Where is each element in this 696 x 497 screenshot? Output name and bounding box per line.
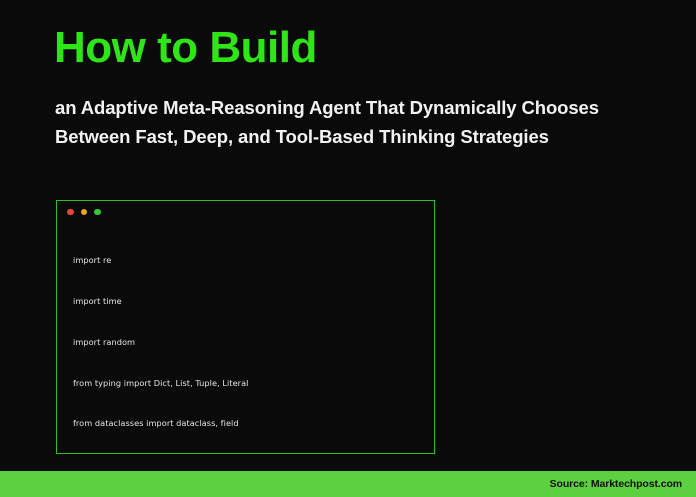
maximize-dot-icon[interactable] — [94, 209, 101, 216]
code-line: import random — [73, 336, 434, 350]
code-line: import time — [73, 295, 434, 309]
source-footer-bar: Source: Marktechpost.com — [0, 471, 696, 497]
code-window-titlebar — [57, 201, 434, 223]
code-line: from dataclasses import dataclass, field — [73, 417, 434, 431]
page-title: How to Build — [54, 24, 317, 72]
close-dot-icon[interactable] — [67, 209, 74, 216]
source-attribution: Source: Marktechpost.com — [550, 478, 696, 490]
slide-canvas: How to Build an Adaptive Meta-Reasoning … — [0, 0, 696, 497]
minimize-dot-icon[interactable] — [81, 209, 88, 216]
code-window: import re import time import random from… — [56, 200, 435, 454]
page-subtitle: an Adaptive Meta-Reasoning Agent That Dy… — [55, 94, 615, 151]
code-line: from typing import Dict, List, Tuple, Li… — [73, 377, 434, 391]
code-line: import re — [73, 254, 434, 268]
code-block: import re import time import random from… — [57, 223, 434, 454]
